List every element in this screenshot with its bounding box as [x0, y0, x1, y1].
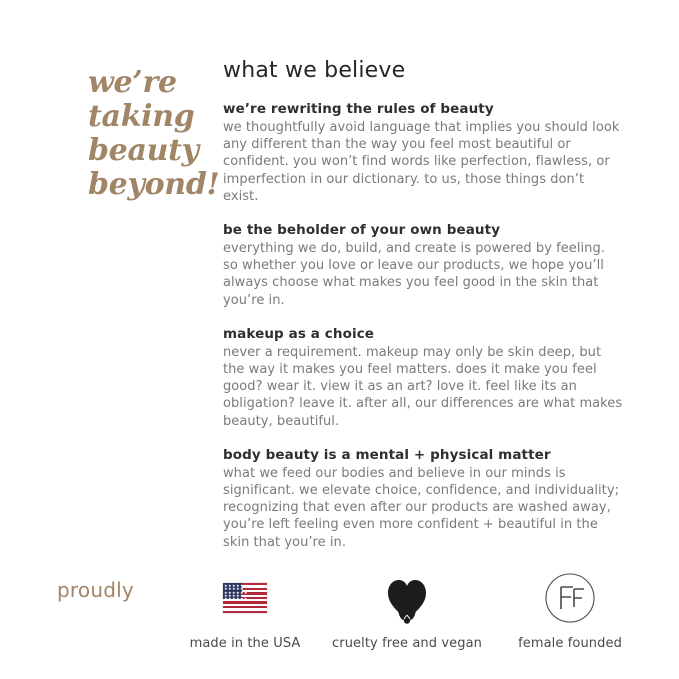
belief-body-2: everything we do, build, and create is p… [223, 240, 623, 309]
belief-heading-1: we’re rewriting the rules of beauty [223, 101, 623, 117]
page-title: what we believe [223, 58, 623, 83]
usa-flag-icon: ★★★★★★★★★★★★★★★★★★★★★★★★★★★★ [223, 583, 267, 613]
belief-heading-3: makeup as a choice [223, 326, 623, 342]
cruelty-free-art [322, 570, 492, 626]
badge-female-founded: female founded [485, 570, 655, 651]
belief-body-4: what we feed our bodies and believe in o… [223, 465, 623, 551]
badge-caption-cruelty: cruelty free and vegan [322, 636, 492, 651]
belief-block-3: makeup as a choice never a requirement. … [223, 326, 623, 430]
badge-made-in-usa: ★★★★★★★★★★★★★★★★★★★★★★★★★★★★ made in the… [160, 570, 330, 651]
badge-cruelty-free: cruelty free and vegan [322, 570, 492, 651]
belief-body-3: never a requirement. makeup may only be … [223, 344, 623, 430]
usa-flag-art: ★★★★★★★★★★★★★★★★★★★★★★★★★★★★ [160, 570, 330, 626]
belief-body-1: we thoughtfully avoid language that impl… [223, 119, 623, 205]
belief-block-1: we’re rewriting the rules of beauty we t… [223, 101, 623, 205]
belief-block-2: be the beholder of your own beauty every… [223, 222, 623, 309]
female-founded-art [485, 570, 655, 626]
female-founded-seal-icon [544, 572, 596, 624]
footer-badges: proudly ★★★★★★★★★★★★★★★★★★★★★★★★★★★★ mad… [0, 560, 679, 660]
belief-heading-2: be the beholder of your own beauty [223, 222, 623, 238]
belief-block-4: body beauty is a mental + physical matte… [223, 447, 623, 551]
brand-headline: we’re taking beauty beyond! [88, 66, 216, 202]
about-brand-panel: we’re taking beauty beyond! what we beli… [0, 0, 679, 679]
badge-caption-usa: made in the USA [160, 636, 330, 651]
cruelty-free-bunny-icon [383, 572, 431, 624]
beliefs-content: what we believe we’re rewriting the rule… [223, 58, 623, 551]
proudly-label: proudly [57, 578, 134, 602]
belief-heading-4: body beauty is a mental + physical matte… [223, 447, 623, 463]
badge-caption-female: female founded [485, 636, 655, 651]
